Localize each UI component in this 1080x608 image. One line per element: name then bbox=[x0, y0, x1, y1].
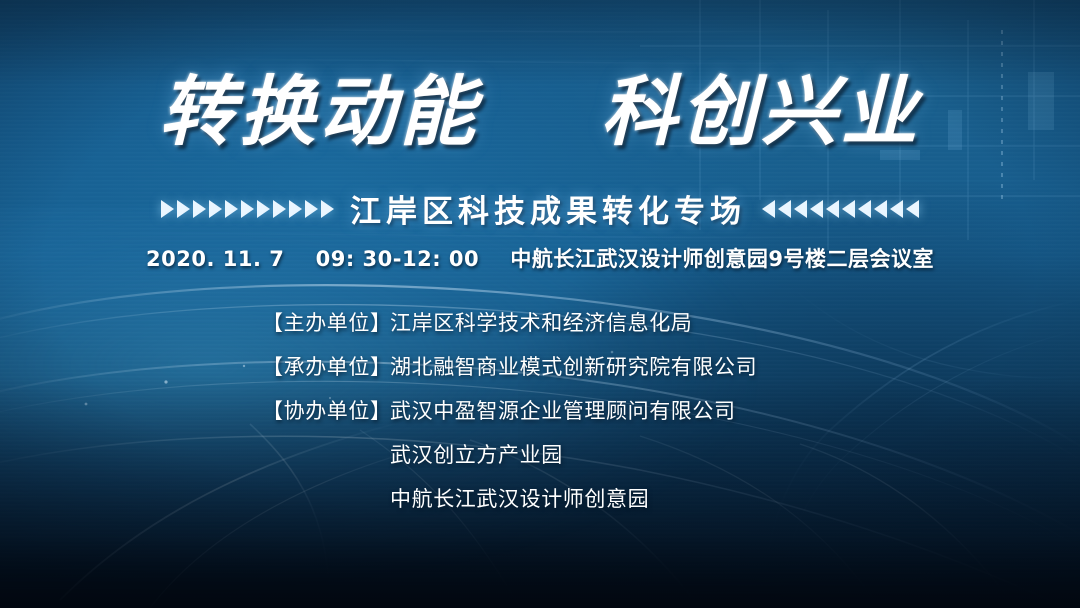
organizer-label: 【主办单位】 bbox=[262, 307, 390, 337]
organizer-label: 【协办单位】 bbox=[262, 395, 390, 425]
arrow-left-icon bbox=[906, 200, 919, 218]
arrow-left-icon bbox=[890, 200, 903, 218]
subtitle-row: 江岸区科技成果转化专场 bbox=[0, 186, 1080, 231]
organizer-name: 武汉创立方产业园 bbox=[390, 439, 563, 469]
organizer-name: 中航长江武汉设计师创意园 bbox=[390, 483, 649, 513]
arrow-left-icon bbox=[842, 200, 855, 218]
arrow-right-icon bbox=[321, 200, 334, 218]
organizer-name: 武汉中盈智源企业管理顾问有限公司 bbox=[390, 395, 736, 425]
page-subtitle: 江岸区科技成果转化专场 bbox=[350, 186, 746, 231]
organizer-row: 【协办单位】武汉中盈智源企业管理顾问有限公司 bbox=[262, 395, 757, 425]
arrow-left-icon bbox=[762, 200, 775, 218]
organizer-list: 【主办单位】江岸区科学技术和经济信息化局【承办单位】湖北融智商业模式创新研究院有… bbox=[262, 307, 757, 513]
arrow-left-icon bbox=[858, 200, 871, 218]
right-arrow-decoration bbox=[762, 200, 919, 218]
event-datetime-venue: 2020. 11. 7 09: 30-12: 00 中航长江武汉设计师创意园9号… bbox=[0, 243, 1080, 273]
arrow-right-icon bbox=[225, 200, 238, 218]
organizer-label: 【承办单位】 bbox=[262, 351, 390, 381]
organizer-name: 江岸区科学技术和经济信息化局 bbox=[390, 307, 692, 337]
left-arrow-decoration bbox=[161, 200, 334, 218]
organizer-row: 【主办单位】江岸区科学技术和经济信息化局 bbox=[262, 307, 757, 337]
arrow-right-icon bbox=[289, 200, 302, 218]
organizer-row: 【协办单位】武汉创立方产业园 bbox=[262, 439, 757, 469]
arrow-left-icon bbox=[826, 200, 839, 218]
arrow-right-icon bbox=[273, 200, 286, 218]
organizer-row: 【承办单位】湖北融智商业模式创新研究院有限公司 bbox=[262, 351, 757, 381]
event-poster: 转换动能 科创兴业 江岸区科技成果转化专场 2020. 11. 7 09: 30… bbox=[0, 0, 1080, 608]
arrow-right-icon bbox=[305, 200, 318, 218]
arrow-left-icon bbox=[778, 200, 791, 218]
arrow-right-icon bbox=[209, 200, 222, 218]
arrow-right-icon bbox=[177, 200, 190, 218]
organizer-row: 【协办单位】中航长江武汉设计师创意园 bbox=[262, 483, 757, 513]
arrow-right-icon bbox=[193, 200, 206, 218]
arrow-left-icon bbox=[874, 200, 887, 218]
arrow-left-icon bbox=[794, 200, 807, 218]
arrow-right-icon bbox=[161, 200, 174, 218]
organizer-name: 湖北融智商业模式创新研究院有限公司 bbox=[390, 351, 757, 381]
arrow-right-icon bbox=[241, 200, 254, 218]
poster-content: 转换动能 科创兴业 江岸区科技成果转化专场 2020. 11. 7 09: 30… bbox=[0, 0, 1080, 608]
arrow-left-icon bbox=[810, 200, 823, 218]
page-title: 转换动能 科创兴业 bbox=[0, 74, 1080, 150]
arrow-right-icon bbox=[257, 200, 270, 218]
